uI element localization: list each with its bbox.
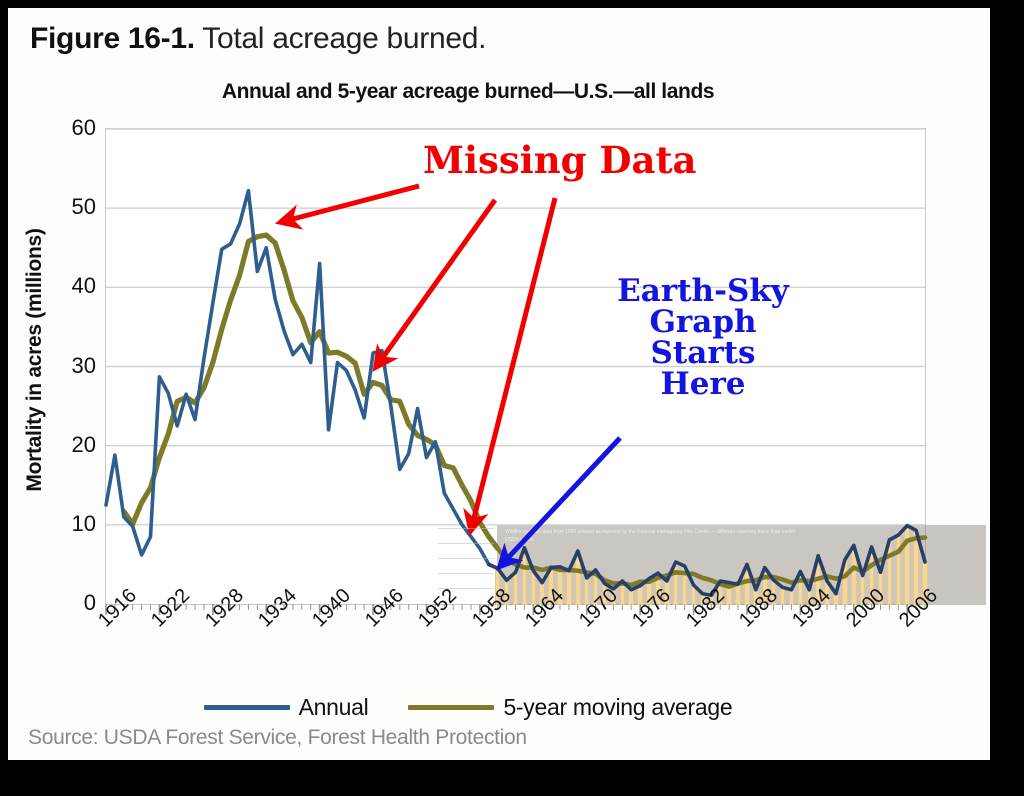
overlay-bar xyxy=(851,546,857,605)
legend-label: 5-year moving average xyxy=(503,694,732,721)
ghost-gridline xyxy=(438,528,494,529)
annotation-line: Starts xyxy=(578,338,828,369)
overlay-bar xyxy=(896,536,902,605)
screenshot-root: Figure 16-1. Total acreage burned. Annua… xyxy=(0,0,1024,788)
legend-swatch xyxy=(408,705,494,710)
source-note: Source: USDA Forest Service, Forest Heal… xyxy=(28,726,527,750)
figure-caption-text: Total acreage burned. xyxy=(195,22,486,55)
chart-legend: Annual5-year moving average xyxy=(8,694,928,721)
figure-caption: Figure 16-1. Total acreage burned. xyxy=(30,22,486,56)
legend-item-annual: Annual xyxy=(204,694,369,721)
annotation-earth-sky-start: Earth-SkyGraphStartsHere xyxy=(578,276,828,400)
ghost-gridline xyxy=(438,573,494,574)
figure-page: Figure 16-1. Total acreage burned. Annua… xyxy=(8,8,990,760)
y-axis-tick-60: 60 xyxy=(40,115,96,141)
ghost-gridline xyxy=(438,558,494,559)
overlay-bar xyxy=(789,591,795,605)
x-axis-labels: 1916192219281934194019461952195819641970… xyxy=(8,608,1024,698)
overlay-bar xyxy=(744,565,750,605)
annotation-line: Graph xyxy=(578,307,828,338)
overlay-bar xyxy=(904,527,910,605)
y-axis-tick-30: 30 xyxy=(40,353,96,379)
overlay-bar xyxy=(628,591,634,605)
annotation-line: Here xyxy=(578,369,828,400)
legend-item-moving-average: 5-year moving average xyxy=(408,694,732,721)
y-axis-tick-20: 20 xyxy=(40,432,96,458)
overlay-bars xyxy=(497,525,986,605)
overlay-bar xyxy=(682,567,688,605)
overlay-bar xyxy=(842,561,848,605)
y-axis-tick-50: 50 xyxy=(40,194,96,220)
annotation-line: Earth-Sky xyxy=(578,276,828,307)
overlay-bar xyxy=(575,552,581,605)
ghost-gridline xyxy=(438,543,494,544)
annotation-missing-data: Missing Data xyxy=(423,142,697,179)
y-axis-tick-40: 40 xyxy=(40,273,96,299)
overlay-bar xyxy=(735,585,741,605)
overlay-bar xyxy=(522,549,528,605)
chart-title: Annual and 5-year acreage burned—U.S.—al… xyxy=(8,80,928,104)
overlay-bar xyxy=(887,541,893,605)
legend-label: Annual xyxy=(299,694,369,721)
y-axis-tick-10: 10 xyxy=(40,511,96,537)
legend-swatch xyxy=(204,705,290,710)
